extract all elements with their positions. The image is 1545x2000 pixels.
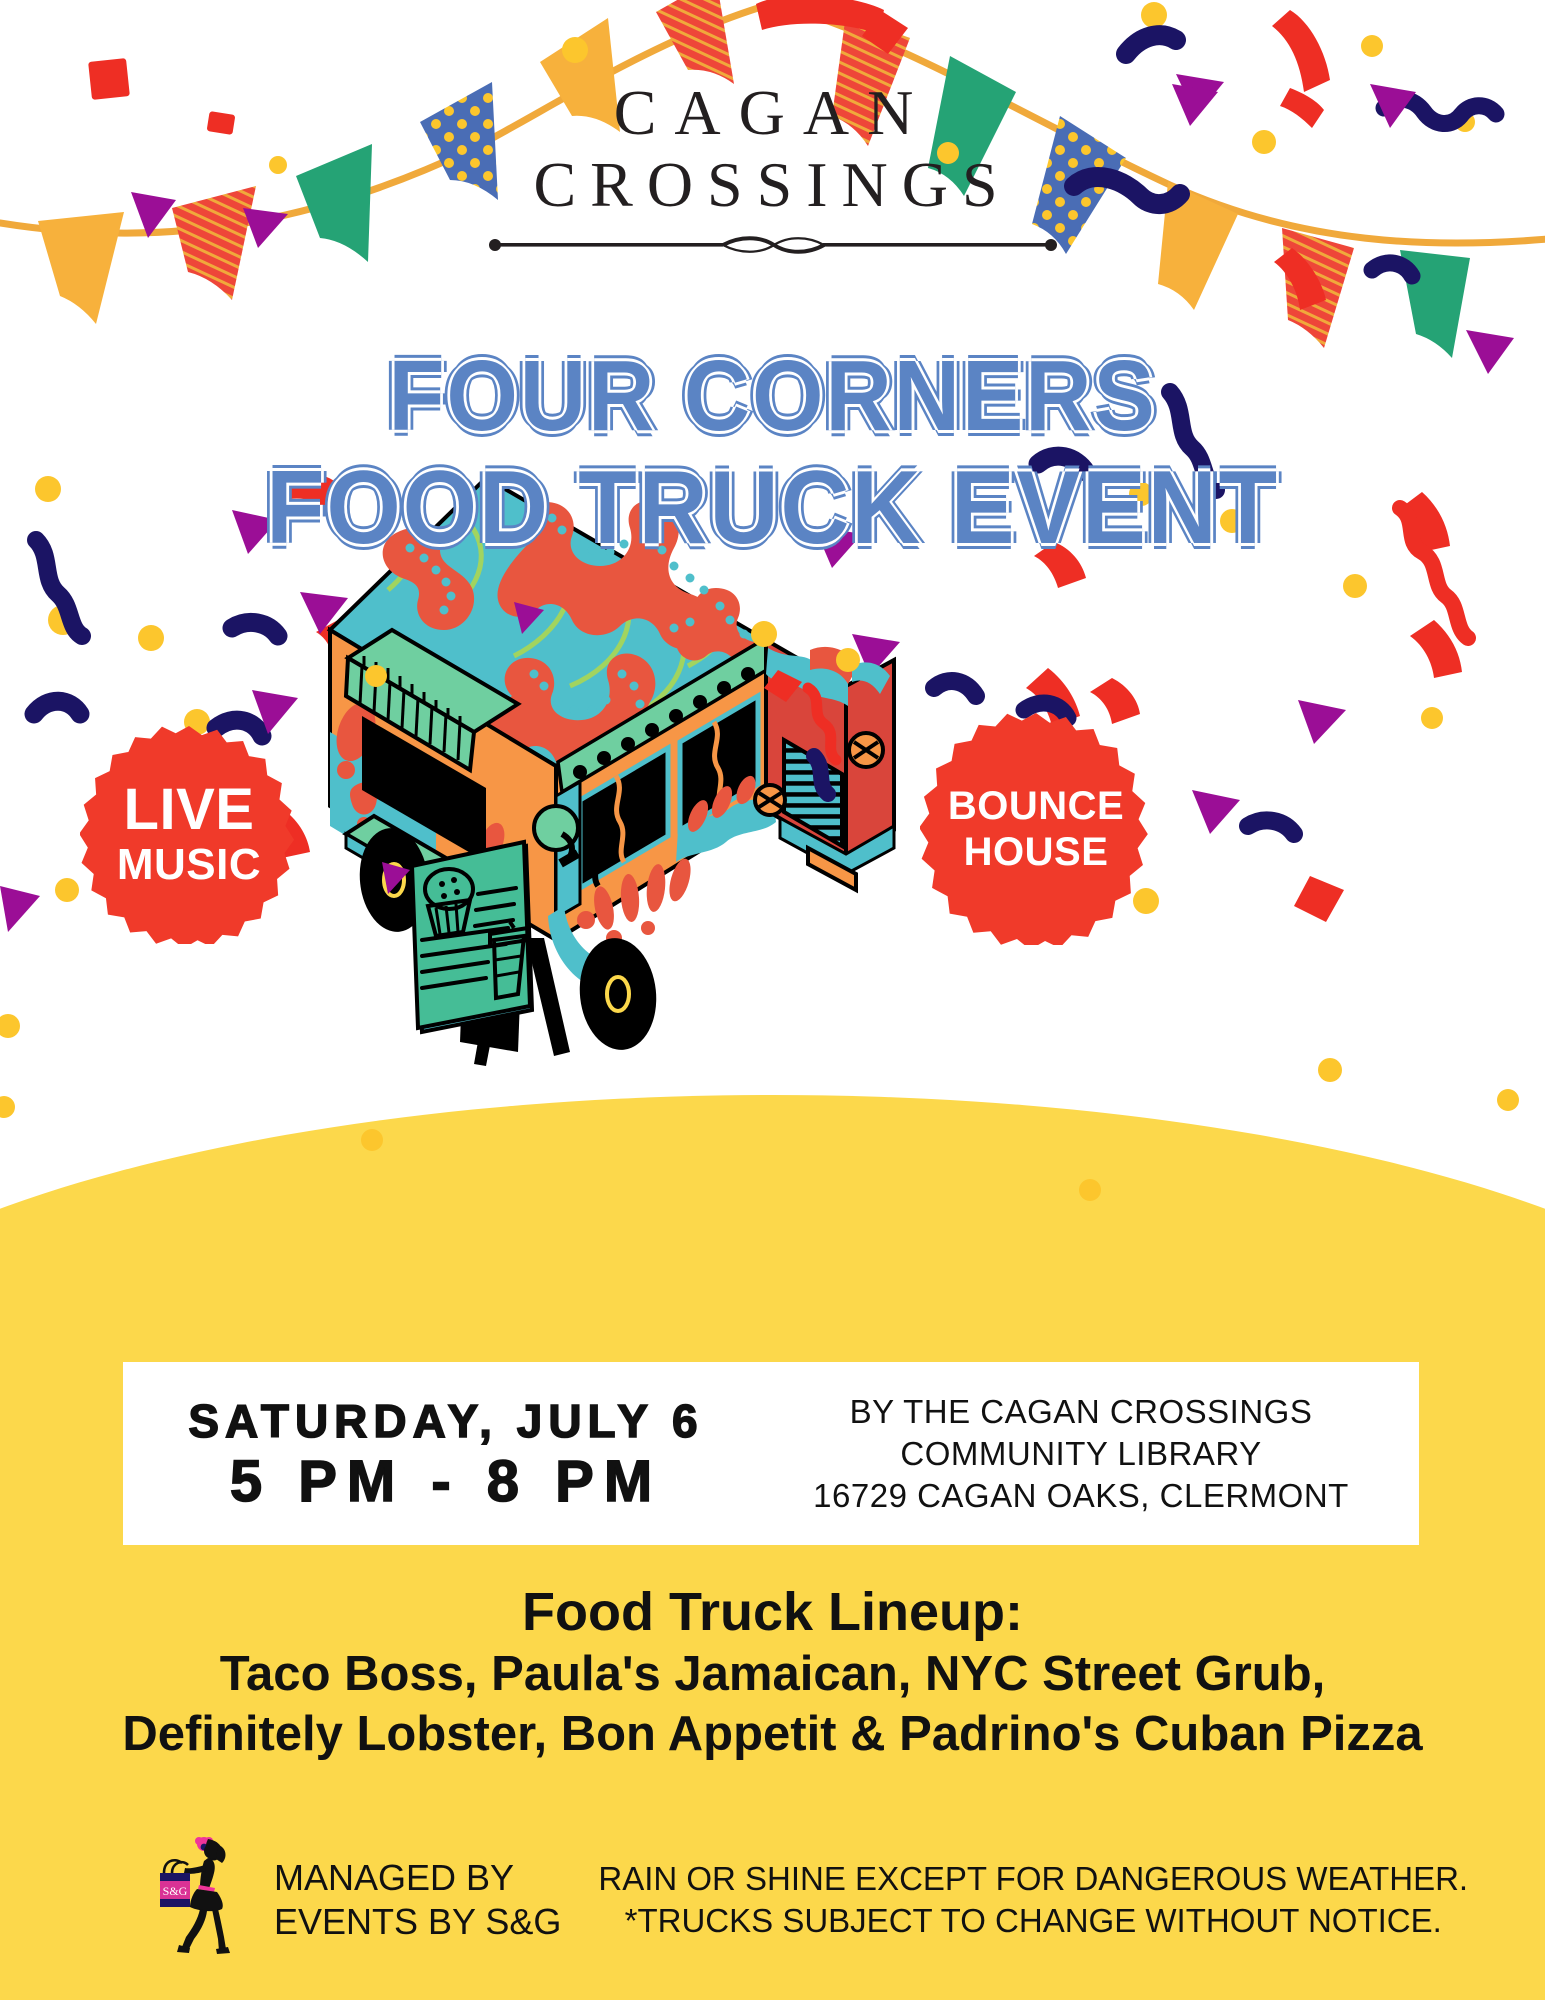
headline-line-2: FOOD TRUCK EVENT xyxy=(62,452,1483,564)
event-date: SATURDAY, JULY 6 xyxy=(149,1393,743,1449)
event-time: 5 PM - 8 PM xyxy=(149,1449,743,1515)
badge-live-music[interactable]: LIVE MUSIC xyxy=(80,726,298,944)
event-datetime-block: SATURDAY, JULY 6 5 PM - 8 PM xyxy=(123,1393,743,1515)
venue-line-2: COMMUNITY LIBRARY xyxy=(743,1433,1419,1475)
footer-note-line-1: RAIN OR SHINE EXCEPT FOR DANGEROUS WEATH… xyxy=(561,1858,1505,1900)
food-truck-lineup: Food Truck Lineup: Taco Boss, Paula's Ja… xyxy=(0,1580,1545,1764)
brand-line-2: CROSSINGS xyxy=(0,148,1545,222)
footer-note-line-2: *TRUCKS SUBJECT TO CHANGE WITHOUT NOTICE… xyxy=(561,1900,1505,1942)
page-title: FOUR CORNERS FOOD TRUCK EVENT xyxy=(0,340,1545,564)
venue-line-1: BY THE CAGAN CROSSINGS xyxy=(743,1391,1419,1433)
badge-live-line-1: LIVE xyxy=(117,780,261,840)
badge-bounce-house-text: BOUNCE HOUSE xyxy=(948,783,1124,875)
lineup-row-2: Definitely Lobster, Bon Appetit & Padrin… xyxy=(0,1704,1545,1764)
brand-logo: CAGAN CROSSINGS xyxy=(0,78,1545,256)
footer-disclaimer: RAIN OR SHINE EXCEPT FOR DANGEROUS WEATH… xyxy=(561,1858,1545,1942)
footer-managed-line-2: EVENTS BY S&G xyxy=(274,1900,561,1944)
lineup-title: Food Truck Lineup: xyxy=(0,1580,1545,1644)
bag-monogram: S&G xyxy=(163,1884,188,1898)
event-info-panel: SATURDAY, JULY 6 5 PM - 8 PM BY THE CAGA… xyxy=(123,1362,1419,1545)
event-venue-block: BY THE CAGAN CROSSINGS COMMUNITY LIBRARY… xyxy=(743,1391,1419,1517)
bunting-accent-diamond xyxy=(862,10,908,54)
headline-line-1: FOUR CORNERS xyxy=(62,340,1483,452)
footer-managed-by: MANAGED BY EVENTS BY S&G xyxy=(274,1856,561,1944)
badge-live-line-2: MUSIC xyxy=(117,840,261,890)
flourish-divider-icon xyxy=(488,234,1058,256)
venue-address: 16729 CAGAN OAKS, CLERMONT xyxy=(743,1475,1419,1517)
badge-bounce-line-1: BOUNCE xyxy=(948,783,1124,829)
lineup-row-1: Taco Boss, Paula's Jamaican, NYC Street … xyxy=(0,1644,1545,1704)
footer-managed-line-1: MANAGED BY xyxy=(274,1856,561,1900)
badge-bounce-house[interactable]: BOUNCE HOUSE xyxy=(920,713,1152,945)
brand-line-1: CAGAN xyxy=(0,78,1545,148)
badge-live-music-text: LIVE MUSIC xyxy=(117,780,261,890)
badge-bounce-line-2: HOUSE xyxy=(948,829,1124,875)
poster-root: CAGAN CROSSINGS FOUR CORNERS FOOD TRUCK … xyxy=(0,0,1545,2000)
footer: S&G MANAGED BY EVENTS BY S&G RAIN OR SHI… xyxy=(0,1820,1545,1980)
shopping-lady-silhouette-icon: S&G xyxy=(152,1835,262,1965)
